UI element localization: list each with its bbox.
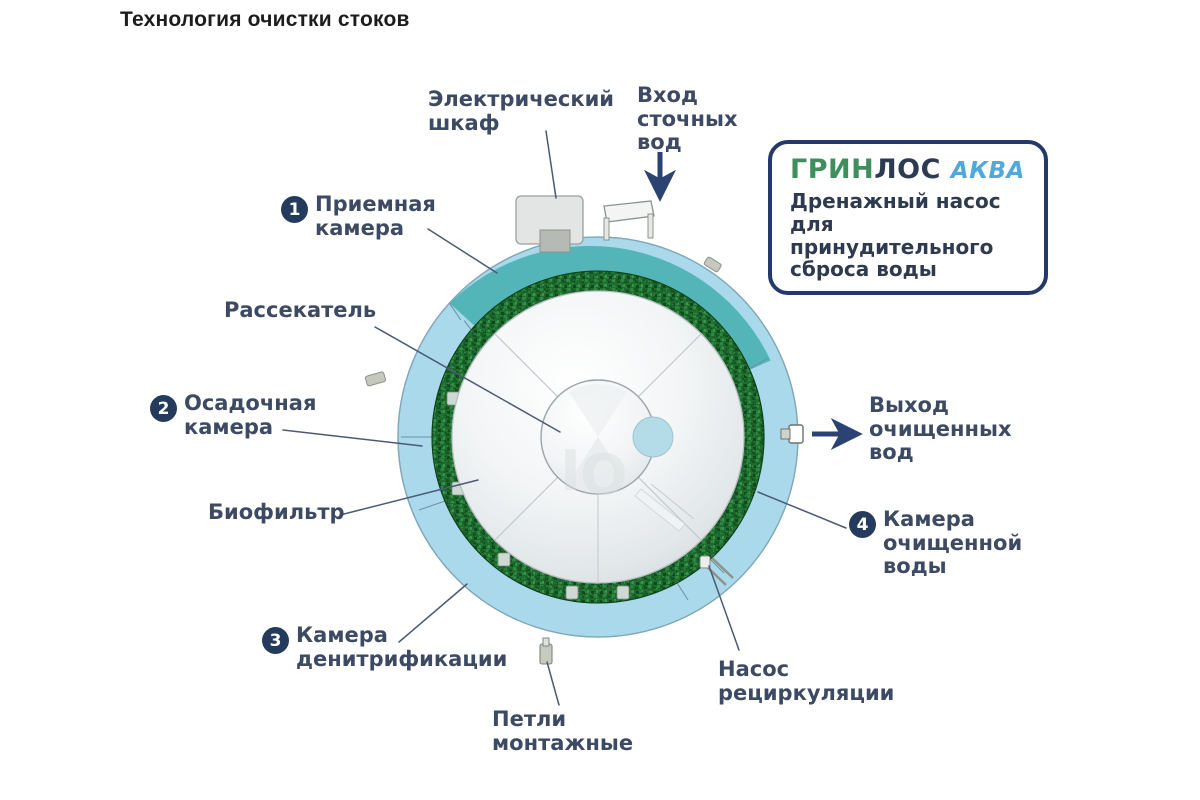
label-recirculation-pump: Насос рециркуляции <box>718 658 894 705</box>
badge-1: 1 <box>281 196 308 223</box>
tank-dome: I O <box>452 291 744 583</box>
callout-2-sedimentation-chamber: 2 Осадочная камера <box>150 392 316 439</box>
mounting-loop-fitting <box>540 638 552 664</box>
callout-3-text: Камера денитрификации <box>296 624 507 671</box>
electrical-cabinet-icon <box>516 196 583 252</box>
waste-inlet-fitting <box>604 201 654 240</box>
label-electrical-cabinet: Электрический шкаф <box>428 88 614 135</box>
label-waste-inlet: Вход сточных вод <box>637 84 738 155</box>
brand-logo-card: ГРИНЛОСАКВА Дренажный насос для принудит… <box>768 140 1048 295</box>
nozzle-left <box>365 371 386 386</box>
callout-1-text: Приемная камера <box>315 193 436 240</box>
label-biofilter: Биофильтр <box>208 501 345 525</box>
callout-4-clean-water-chamber: 4 Камера очищенной воды <box>849 508 1022 579</box>
label-clean-outlet: Выход очищенных вод <box>869 394 1012 465</box>
brand-part-akva: АКВА <box>951 158 1025 184</box>
brand-subtitle: Дренажный насос для принудительного сбро… <box>790 190 1030 281</box>
brand-part-grin: ГРИН <box>790 154 874 185</box>
badge-3: 3 <box>262 627 289 654</box>
callout-2-text: Осадочная камера <box>184 392 316 439</box>
brand-part-los: ЛОС <box>874 154 941 185</box>
callout-4-text: Камера очищенной воды <box>883 508 1022 579</box>
svg-text:O: O <box>580 443 628 508</box>
callout-3-denitrification-chamber: 3 Камера денитрификации <box>262 624 507 671</box>
svg-text:I: I <box>560 439 581 504</box>
badge-4: 4 <box>849 511 876 538</box>
badge-2: 2 <box>150 395 177 422</box>
label-distributor: Рассекатель <box>224 299 376 323</box>
diagram-page: Технология очистки стоков <box>0 0 1200 800</box>
callout-1-receiving-chamber: 1 Приемная камера <box>281 193 436 240</box>
label-mounting-loops: Петли монтажные <box>492 708 633 755</box>
brand-wordmark: ГРИНЛОСАКВА <box>790 156 1030 184</box>
